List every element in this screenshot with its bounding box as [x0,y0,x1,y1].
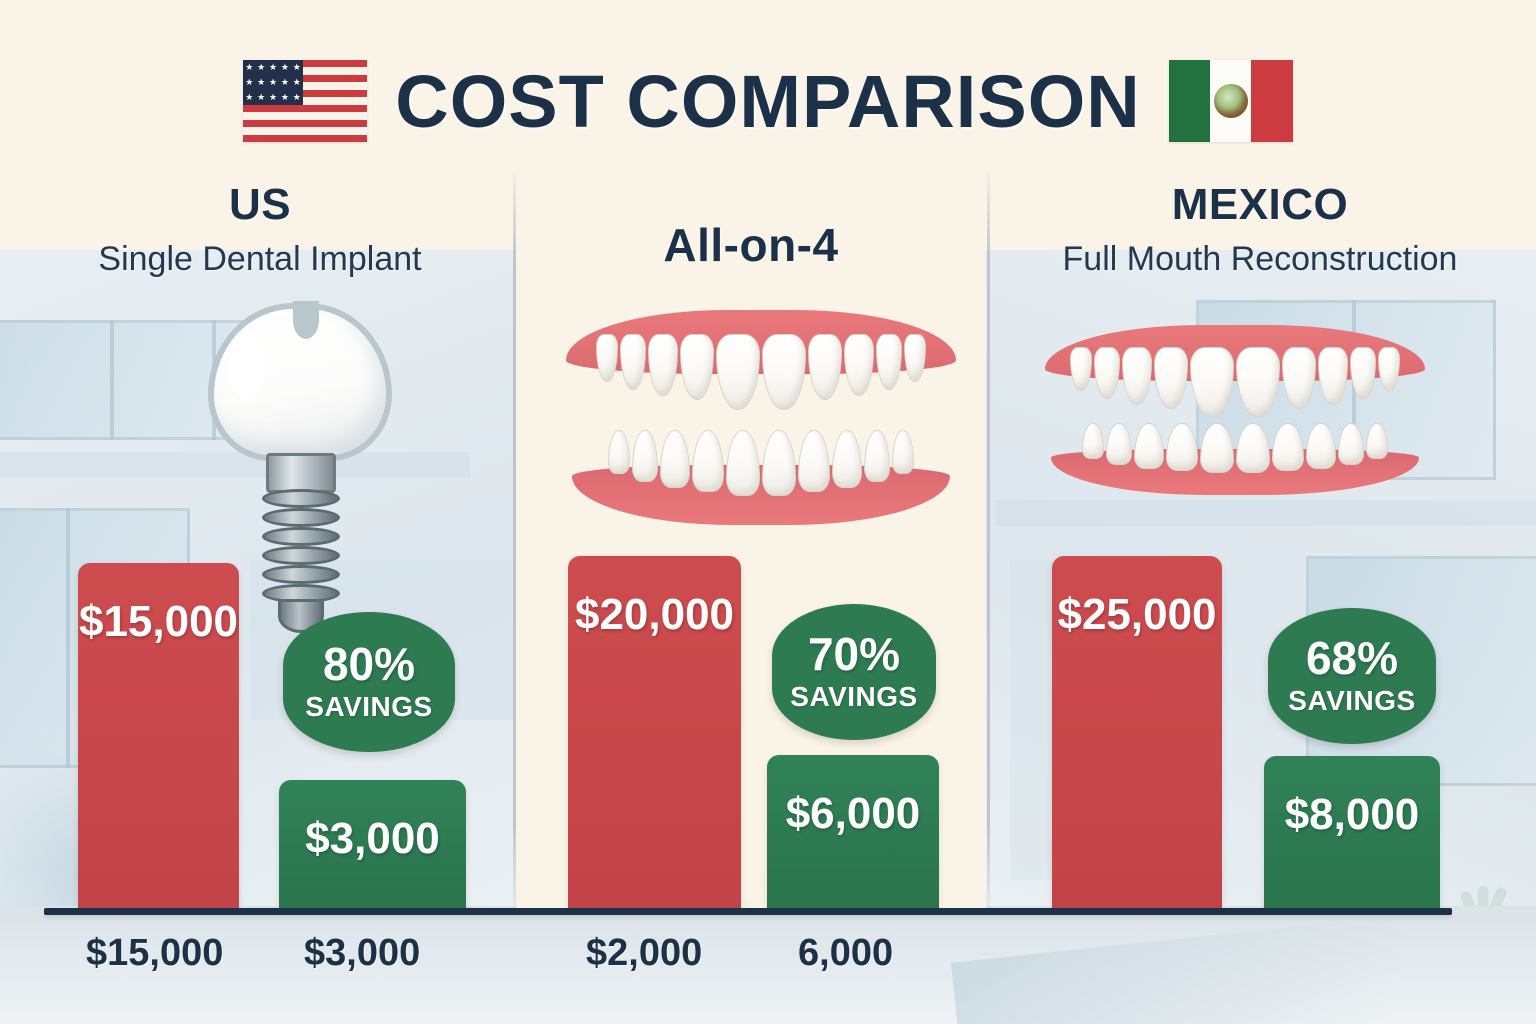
bar-us-1[interactable]: $15,000 [78,563,239,908]
savings-label: SAVINGS [305,691,432,723]
bar-value-label: $6,000 [786,789,921,908]
column-header-us: US Single Dental Implant [10,180,510,279]
bar-us-3[interactable]: $25,000 [1052,556,1222,908]
savings-percent: 70% [808,631,900,677]
savings-percent: 68% [1306,635,1398,681]
bar-value-label: $25,000 [1057,590,1216,908]
savings-badge-1: 80% SAVINGS [283,612,455,752]
bar-value-label: $20,000 [575,590,734,908]
column-country-label: US [10,180,510,230]
axis-tick-label: $15,000 [86,932,223,975]
bar-us-2[interactable]: $20,000 [568,556,741,908]
us-flag-icon: ★★★★★ ★★★★★ ★★★★★ [243,60,367,142]
header: ★★★★★ ★★★★★ ★★★★★ COST COMPARISON [0,46,1536,156]
axis-tick-label: $2,000 [586,932,702,975]
bar-mexico-3[interactable]: $8,000 [1264,756,1440,908]
axis-tick-label: $3,000 [304,932,420,975]
savings-label: SAVINGS [1288,685,1415,717]
infographic-canvas: ★★★★★ ★★★★★ ★★★★★ COST COMPARISON US Sin… [0,0,1536,1024]
bar-value-label: $8,000 [1285,790,1420,908]
column-procedure-label: Full Mouth Reconstruction [990,240,1530,279]
bar-value-label: $15,000 [79,597,238,908]
page-title: COST COMPARISON [395,59,1140,144]
savings-badge-2: 70% SAVINGS [772,604,936,740]
column-header-mexico: MEXICO Full Mouth Reconstruction [990,180,1530,279]
mexico-flag-icon [1169,60,1293,142]
bar-mexico-1[interactable]: $3,000 [279,780,466,908]
chart-axis-line [44,908,1452,915]
savings-percent: 80% [323,641,415,687]
bar-mexico-2[interactable]: $6,000 [767,755,939,908]
column-header-all-on-4: All-on-4 [516,218,986,272]
column-procedure-label: Single Dental Implant [10,240,510,279]
axis-tick-label: 6,000 [798,932,893,975]
bar-value-label: $3,000 [305,814,440,908]
savings-label: SAVINGS [790,681,917,713]
savings-badge-3: 68% SAVINGS [1268,608,1436,744]
column-country-label: MEXICO [990,180,1530,230]
